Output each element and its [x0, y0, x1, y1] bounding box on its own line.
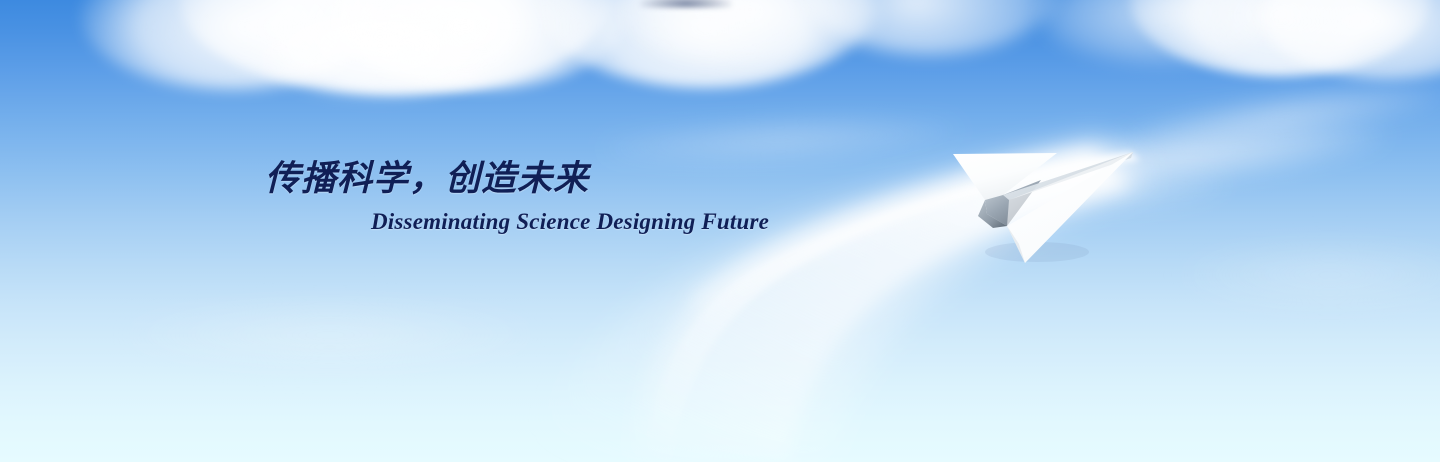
hero-banner: 传播科学，创造未来 Disseminating Science Designin… — [0, 0, 1440, 462]
slogan-english: Disseminating Science Designing Future — [371, 209, 769, 235]
slogan-chinese: 传播科学，创造未来 — [265, 150, 589, 201]
slogan-block: 传播科学，创造未来 Disseminating Science Designin… — [0, 0, 1440, 462]
